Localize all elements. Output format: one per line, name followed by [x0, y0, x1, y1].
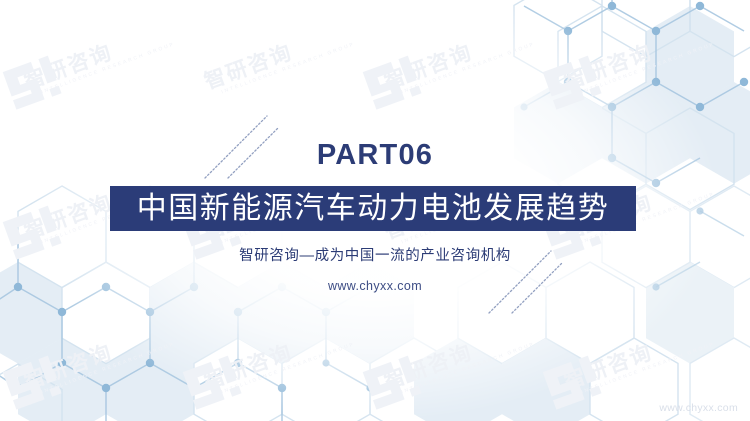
part-label: PART06	[0, 141, 750, 170]
page-title: 中国新能源汽车动力电池发展趋势	[137, 194, 610, 224]
presentation-slide: 智研咨询 INTELLIGENCE RESEARCH GROUP 智研咨询 IN…	[0, 0, 750, 421]
slide-content: PART06 中国新能源汽车动力电池发展趋势 智研咨询—成为中国一流的产业咨询机…	[0, 0, 750, 421]
site-url: www.chyxx.com	[0, 280, 750, 293]
corner-url: www.chyxx.com	[659, 403, 738, 414]
subtitle: 智研咨询—成为中国一流的产业咨询机构	[0, 249, 750, 264]
title-banner: 中国新能源汽车动力电池发展趋势	[110, 186, 636, 231]
